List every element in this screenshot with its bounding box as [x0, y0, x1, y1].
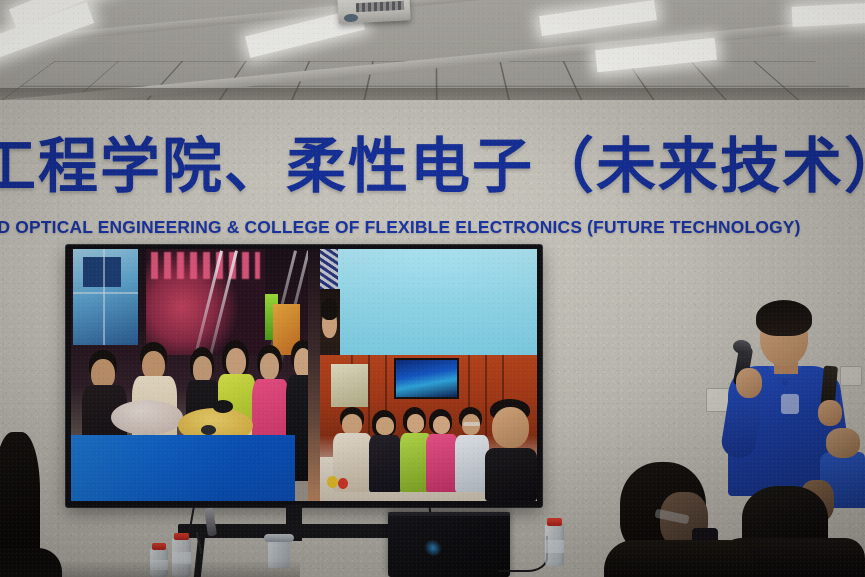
cup-lid — [264, 534, 294, 542]
ceiling-light — [792, 1, 865, 27]
photo-party-sign — [151, 252, 261, 280]
photo-karaoke-screen — [394, 358, 459, 399]
presenter-hair — [756, 300, 812, 336]
laptop-edge — [388, 512, 510, 516]
karaoke-room-photo — [320, 355, 537, 501]
wall-outlet[interactable] — [840, 366, 862, 386]
slide-blue-overlay — [71, 435, 295, 501]
ceiling-beam — [0, 0, 865, 50]
photo-fruit — [327, 476, 338, 488]
slide-left-panel — [71, 249, 320, 501]
presentation-display[interactable] — [66, 245, 542, 507]
laptop-cable — [498, 536, 548, 572]
slide-cyan-overlay — [338, 249, 537, 355]
bottle-cap — [174, 533, 189, 540]
audience-head — [826, 428, 860, 458]
ceiling-light — [539, 0, 657, 36]
party-room-photo — [71, 249, 320, 501]
photo-bowl — [213, 400, 233, 413]
display-screen — [71, 249, 537, 501]
wall-title-chinese: 工程学院、柔性电子（未来技术）学院 — [0, 132, 865, 202]
wall-title-english: AND OPTICAL ENGINEERING & COLLEGE OF FLE… — [0, 215, 865, 239]
bottle-cap — [547, 518, 562, 526]
presenter-shirt-logo — [781, 394, 799, 414]
presenter-hand-left — [736, 368, 762, 398]
photo-poster — [331, 364, 368, 408]
foreground-shadow — [0, 560, 300, 577]
photo-wall-screen — [83, 257, 120, 287]
photograph-scene: 工程学院、柔性电子（未来技术）学院 AND OPTICAL ENGINEERIN… — [0, 0, 865, 577]
presenter-hand-right — [818, 400, 842, 426]
photo-person — [485, 399, 537, 501]
bottle-cap — [152, 543, 166, 550]
audience-shoulder — [604, 540, 754, 577]
laptop-computer[interactable] — [388, 512, 510, 577]
slide-right-panel — [320, 249, 537, 501]
bottle-label — [545, 540, 564, 553]
suspended-ceiling — [0, 0, 865, 108]
photo-right-edge — [308, 249, 320, 501]
